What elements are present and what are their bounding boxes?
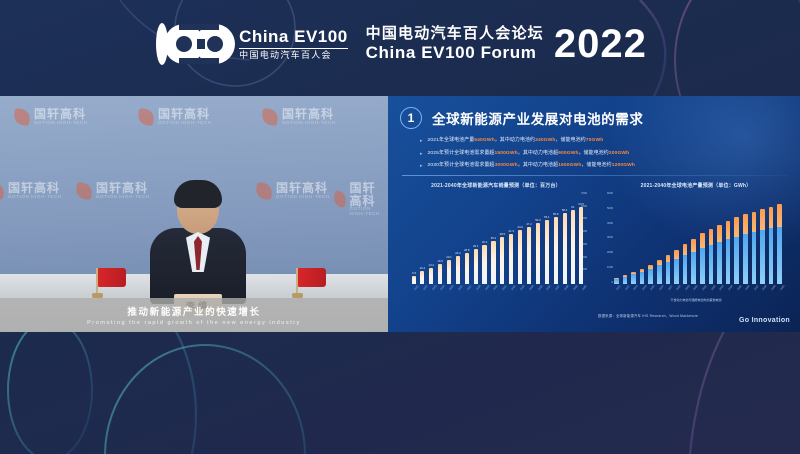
battery-output-forecast-chart: 2021-2040年全球电池产量预测（单位：GWh） 6000500040003… [600,182,792,310]
chart-stacked-bar [640,269,645,284]
backdrop-logo-en: GOTION HIGH-TECH [96,195,150,200]
bullet-marker-icon: ▸ [420,136,423,146]
bar-segment-storage [674,250,679,259]
x-tick-label: 2023 [431,286,436,291]
bar-segment-power [743,234,748,284]
ev100-logo: China EV100 中国电动汽车百人会 [153,20,348,68]
gotion-mark-icon [75,182,93,200]
backdrop-logo-en: GOTION HIGH-TECH [350,207,389,216]
bar-value-label: 38.5 [500,232,505,236]
chart-stacked-bar [666,255,671,284]
bullet-text-segment: ，其中动力电池超 [518,151,558,156]
bar-segment-storage [760,209,765,230]
x-tick-label: 2031 [502,286,507,291]
bullet-text: 2021年全球电池产量540GWh，其中动力电池约340GWh，储能电池约70G… [428,136,604,146]
x-tick-label: 2034 [728,286,733,291]
backdrop-logo-en: GOTION HIGH-TECH [8,195,62,200]
x-tick-label: 2028 [475,286,480,291]
chart-bar [429,268,433,284]
x-tick-label: 2024 [440,286,445,291]
chart-bar-column: 6.5 [412,192,416,284]
chart-stacked-bar [674,250,679,284]
bar-value-label: 25.8 [464,248,469,252]
y-axis-ticks: 6000500040003000200010000 [600,192,613,284]
chart-plot-area: 6000500040003000200010000 [600,192,792,284]
chart-bar [545,220,549,284]
bar-segment-power [657,265,662,284]
chart-bar-column: 10.4 [420,192,425,284]
x-tick-label: 2040 [779,286,784,291]
gotion-mark-icon [255,182,273,200]
x-tick-label: 2030 [493,286,498,291]
bar-segment-storage [726,221,731,239]
x-tick-label: 2037 [753,286,758,291]
chart-stacked-bar [683,244,688,284]
bar-value-label: 63.5 [578,202,583,206]
bullet-marker-icon: ▸ [420,149,423,159]
bar-segment-power [631,274,636,284]
chart-bar-column [717,192,722,284]
bar-segment-power [717,242,722,284]
backdrop-logo-cn: 国轩高科 [282,108,336,121]
x-tick-label: 2038 [564,286,569,291]
bar-value-label: 44.6 [517,225,522,229]
chart-bar-column [700,192,705,284]
chart-stacked-bar [760,209,765,284]
speaker-figure [150,184,246,304]
forum-year: 2022 [554,22,647,67]
x-tick-label: 2032 [710,286,715,291]
broadcast-video-frame[interactable]: 国轩高科 GOTION HIGH-TECH 国轩高科 GOTION HIGH-T… [0,96,800,332]
chart-bar-column: 63.5 [578,192,583,284]
backdrop-logo-en: GOTION HIGH-TECH [276,195,330,200]
x-tick-label: 2025 [650,286,655,291]
chart-bar [447,260,451,284]
bullet-highlight-value: 70GWh [586,138,604,143]
x-tick-label: 2024 [641,286,646,291]
x-tick-label: 2033 [719,286,724,291]
bar-segment-power [760,230,765,284]
x-tick-label: 2027 [467,286,472,291]
chart-stacked-bar [657,260,662,284]
chart-bar [456,256,460,284]
bullet-text-segment: 2021年全球电池产量 [428,138,475,143]
gotion-mark-icon [261,108,279,126]
chart-stacked-bar [734,217,739,284]
bar-segment-power [734,237,739,284]
bullet-highlight-value: 900GWh [558,151,578,156]
chart-bar [500,237,504,284]
chart-bar-column [683,192,688,284]
bar-segment-storage [666,255,671,262]
chart-bar-column: 61 [571,192,575,284]
bar-segment-storage [769,207,774,229]
x-tick-label: 2022 [624,286,629,291]
chart-bar [474,249,478,284]
bar-segment-power [726,239,731,284]
chart-bar [579,207,583,284]
chart-bar-column [709,192,714,284]
forum-title-en: China EV100 Forum [366,43,544,62]
bullet-highlight-value: 1600GWh [558,163,581,168]
chart-bar-column [777,192,782,284]
forum-header: China EV100 中国电动汽车百人会 中国电动汽车百人会论坛 China … [0,0,800,88]
x-tick-label: 2039 [573,286,578,291]
chart-bar-column [666,192,671,284]
chart-bar [412,276,416,284]
chart-bar-column: 20.1 [446,192,451,284]
x-tick-label: 2025 [449,286,454,291]
x-tick-label: 2034 [528,286,533,291]
y-tick-label: 4000 [607,222,613,225]
bullet-text: 2030年预计全球电池需求量超3000GWh，其中动力电池超1600GWh，储能… [428,161,636,171]
y-tick-label: 0 [612,281,614,284]
bar-segment-storage [734,217,739,236]
chart-bar-column: 13.2 [429,192,434,284]
bar-segment-storage [717,225,722,242]
bar-value-label: 58.4 [562,208,567,212]
bar-segment-storage [777,204,782,226]
x-tick-label: 2035 [537,286,542,291]
y-tick-label: 6000 [607,192,613,195]
bar-value-label: 10.4 [420,266,425,270]
bar-value-label: 55.8 [553,212,558,216]
logo-divider [239,48,348,49]
chart-bar [554,217,558,284]
bar-segment-power [666,262,671,284]
backdrop-logo: 国轩高科 GOTION HIGH-TECH [138,108,212,125]
chart-bar-column [614,192,619,284]
y-tick-label: 5000 [607,207,613,210]
x-tick-label: 2022 [422,286,427,291]
chart-bar-column [734,192,739,284]
chart-bar-column: 35.2 [491,192,496,284]
chart-stacked-bar [709,229,714,284]
bar-segment-storage [683,244,688,255]
x-tick-label: 2037 [555,286,560,291]
chinese-flag-right [292,268,326,298]
bar-value-label: 32.4 [482,240,487,244]
bullet-text-segment: 2030年预计全球电池需求量超 [428,163,495,168]
bar-segment-power [777,227,782,284]
x-tick-label: 2031 [702,286,707,291]
chart-bar-column: 41.3 [509,192,514,284]
chart-bar [518,230,522,284]
bar-value-label: 41.3 [509,229,514,233]
chart-stacked-bar [700,233,705,284]
x-tick-label: 2038 [762,286,767,291]
backdrop-logo: 国轩高科 GOTION HIGH-TECH [262,108,336,125]
chart-bar-column: 58.4 [562,192,567,284]
bullet-text-segment: ，其中动力电池约 [495,138,535,143]
bar-segment-power [691,252,696,284]
x-tick-label: 2029 [484,286,489,291]
bar-segment-storage [709,229,714,245]
chart-stacked-bar [614,278,619,284]
chart-stacked-bar [752,212,757,284]
bar-segment-storage [691,239,696,252]
chart-stacked-bar [623,275,628,284]
backdrop-logo: 国轩高科 GOTION HIGH-TECH [256,182,330,199]
subtitle-chinese: 推动新能源产业的快速增长 [127,304,260,318]
x-tick-label: 2040 [581,286,586,291]
backdrop-logo-en: GOTION HIGH-TECH [282,121,336,126]
backdrop-logo-en: GOTION HIGH-TECH [34,121,88,126]
x-tick-label: 2035 [736,286,741,291]
backdrop-logo-cn: 国轩高科 [158,108,212,121]
chart-bar-column: 23.2 [455,192,460,284]
chart-plot-area: 70006000500040003000200010000 6.510.413.… [398,192,594,284]
x-tick-label: 2023 [633,286,638,291]
backdrop-logo-cn: 国轩高科 [34,108,88,121]
backdrop-logo-cn: 国轩高科 [350,182,389,207]
bullet-text-segment: ，储能电池约 [579,151,609,156]
chart-bar-column [743,192,748,284]
logo-en-text: China EV100 [239,28,348,46]
logo-cn-text: 中国电动汽车百人会 [239,51,348,60]
chart-bar [571,210,575,284]
ev100-infinity-logo-icon [153,20,239,68]
x-tick-label: 2026 [458,286,463,291]
bullet-text: 2025年预计全球电池需求量超1500GWh，其中动力电池超900GWh，储能电… [428,149,630,159]
presentation-slide: 1 全球新能源产业发展对电池的需求 ▸2021年全球电池产量540GWh，其中动… [388,96,800,332]
backdrop-logo-cn: 国轩高科 [96,182,150,195]
x-tick-label: 2021 [414,286,419,291]
x-tick-label: 2032 [511,286,516,291]
chart-title: 2021-2040年全球新能源汽车销量预测（单位：百万台） [398,182,594,189]
bar-value-label: 23.2 [455,251,460,255]
chart-stacked-bar [691,239,696,284]
chart-bar-column: 50.3 [535,192,540,284]
chart-bar [438,264,442,284]
chart-bar-column [631,192,636,284]
bullet-highlight-value: 200GWh [609,151,629,156]
subtitle-bar: 推动新能源产业的快速增长 Promoting the rapid growth … [0,298,388,332]
chart-bar-column [769,192,774,284]
chart-stacked-bar [717,225,722,284]
bar-value-label: 53.1 [544,215,549,219]
bullet-text-segment: ，其中动力电池超 [518,163,558,168]
ev-sales-forecast-chart: 2021-2040年全球新能源汽车销量预测（单位：百万台） 7000600050… [398,182,594,310]
x-tick-label: 2033 [520,286,525,291]
chart-bar [536,223,540,284]
chart-bar-column: 16.5 [437,192,442,284]
backdrop-logo-cn: 国轩高科 [8,182,62,195]
chart-bar [509,234,513,284]
chart-bar-column: 47.2 [526,192,531,284]
chart-stacked-bar [648,265,653,284]
chart-bar-column: 44.6 [517,192,522,284]
bar-segment-storage [700,233,705,248]
bar-value-label: 35.2 [491,236,496,240]
x-tick-label: 2026 [659,286,664,291]
bullet-highlight-value: 1500GWh [494,151,517,156]
slide-tagline: Go Innovation [739,317,790,324]
gotion-mark-icon [0,182,5,200]
y-tick-label: 1000 [607,266,613,269]
flag-cloth [298,268,326,287]
chart-bar-column: 25.8 [464,192,469,284]
bar-value-label: 61 [571,205,574,209]
bullet-highlight-value: 1200GWh [612,163,635,168]
chart-bar-column [726,192,731,284]
slide-source-note: 数据来源：全球新能源汽车 IHS Research、Wood Mackenzie [598,313,698,318]
chinese-flag-left [92,268,126,298]
chart-title: 2021-2040年全球电池产量预测（单位：GWh） [600,182,792,189]
bar-segment-storage [743,214,748,234]
bar-value-label: 47.2 [526,222,531,226]
x-tick-label: 2030 [693,286,698,291]
chart-bar-column [623,192,628,284]
chart-bar-column [674,192,679,284]
bullet-highlight-value: 340GWh [535,138,555,143]
slide-title: 全球新能源产业发展对电池的需求 [432,108,644,128]
backdrop-logo-cn: 国轩高科 [276,182,330,195]
slide-heading: 1 全球新能源产业发展对电池的需求 [400,107,644,129]
bar-segment-power [640,272,645,284]
slide-number-badge: 1 [400,107,422,129]
gotion-mark-icon [137,108,155,126]
chart-bar-column: 32.4 [482,192,487,284]
y-tick-label: 2000 [607,251,613,254]
x-tick-label: 2027 [667,286,672,291]
x-tick-label: 2039 [771,286,776,291]
bar-segment-power [614,279,619,284]
bullet-text-segment: ，储能电池约 [556,138,586,143]
flag-cloth [98,268,126,287]
bar-segment-power [700,248,705,284]
bullet-marker-icon: ▸ [420,161,423,171]
x-tick-label: 2036 [546,286,551,291]
x-axis-labels: 2021202220232024202520262027202820292030… [398,284,594,289]
chart-bar-column: 55.8 [553,192,558,284]
chart-bar-column: 53.1 [544,192,549,284]
slide-divider [402,175,788,176]
backdrop-logo: 国轩高科 GOTION HIGH-TECH [0,182,62,199]
bullet-highlight-value: 3000GWh [494,163,517,168]
bullet-highlight-value: 540GWh [474,138,494,143]
chart-bar-column [760,192,765,284]
bullet-text-segment: ，储能电池约 [581,163,611,168]
forum-title-block: 中国电动汽车百人会论坛 China EV100 Forum 2022 [366,22,647,67]
forum-title-cn: 中国电动汽车百人会论坛 [366,26,544,43]
chart-note: 不含动力电池与储能电池外的其他电池 [600,298,792,302]
slide-bullet-list: ▸2021年全球电池产量540GWh，其中动力电池约340GWh，储能电池约70… [420,136,790,174]
subtitle-english: Promoting the rapid growth of the new en… [87,320,301,326]
bar-segment-power [769,228,774,284]
chart-stacked-bar [769,207,774,284]
chart-bar-column [657,192,662,284]
backdrop-logo: 国轩高科 GOTION HIGH-TECH [334,182,388,217]
chart-stacked-bar [631,272,636,284]
bar-segment-power [648,269,653,284]
chart-stacked-bar [743,214,748,284]
gotion-mark-icon [13,108,31,126]
bar-segment-power [683,255,688,284]
gotion-mark-icon [333,191,347,208]
chart-bar-column [752,192,757,284]
speaker-hair [174,180,222,208]
chart-bar-column [648,192,653,284]
bar-segment-power [709,245,714,284]
speaker-camera-view: 国轩高科 GOTION HIGH-TECH 国轩高科 GOTION HIGH-T… [0,96,388,332]
chart-bar [482,245,486,284]
slide-bullet: ▸2030年预计全球电池需求量超3000GWh，其中动力电池超1600GWh，储… [420,161,790,171]
bar-segment-storage [752,212,757,233]
bar-segment-power [674,259,679,284]
chart-bar [563,213,567,284]
chart-bar-column: 38.5 [500,192,505,284]
chart-bar [491,241,495,284]
backdrop-logo-en: GOTION HIGH-TECH [158,121,212,126]
bar-value-label: 50.3 [535,218,540,222]
bar-value-label: 6.5 [412,271,416,275]
backdrop-logo: 国轩高科 GOTION HIGH-TECH [14,108,88,125]
x-axis-labels: 2021202220232024202520262027202820292030… [600,284,792,289]
chart-bar-column [640,192,645,284]
chart-bar [465,253,469,284]
chart-bar [420,271,424,284]
bar-value-label: 29.1 [473,244,478,248]
bar-value-label: 16.5 [437,259,442,263]
bar-value-label: 13.2 [429,263,434,267]
slide-number: 1 [408,111,415,125]
chart-stacked-bar [777,204,782,284]
chart-stacked-bar [726,221,731,284]
x-tick-label: 2029 [684,286,689,291]
chart-bar-column: 29.1 [473,192,478,284]
bar-segment-power [623,277,628,284]
bar-segment-power [752,232,757,284]
x-tick-label: 2021 [616,286,621,291]
slide-bullet: ▸2021年全球电池产量540GWh，其中动力电池约340GWh，储能电池约70… [420,136,790,146]
backdrop-logo: 国轩高科 GOTION HIGH-TECH [76,182,150,199]
slide-bullet: ▸2025年预计全球电池需求量超1500GWh，其中动力电池超900GWh，储能… [420,149,790,159]
bullet-text-segment: 2025年预计全球电池需求量超 [428,151,495,156]
x-tick-label: 2028 [676,286,681,291]
y-tick-label: 3000 [607,236,613,239]
chart-bar-column [691,192,696,284]
x-tick-label: 2036 [745,286,750,291]
chart-bar [527,227,531,284]
bar-value-label: 20.1 [446,255,451,259]
